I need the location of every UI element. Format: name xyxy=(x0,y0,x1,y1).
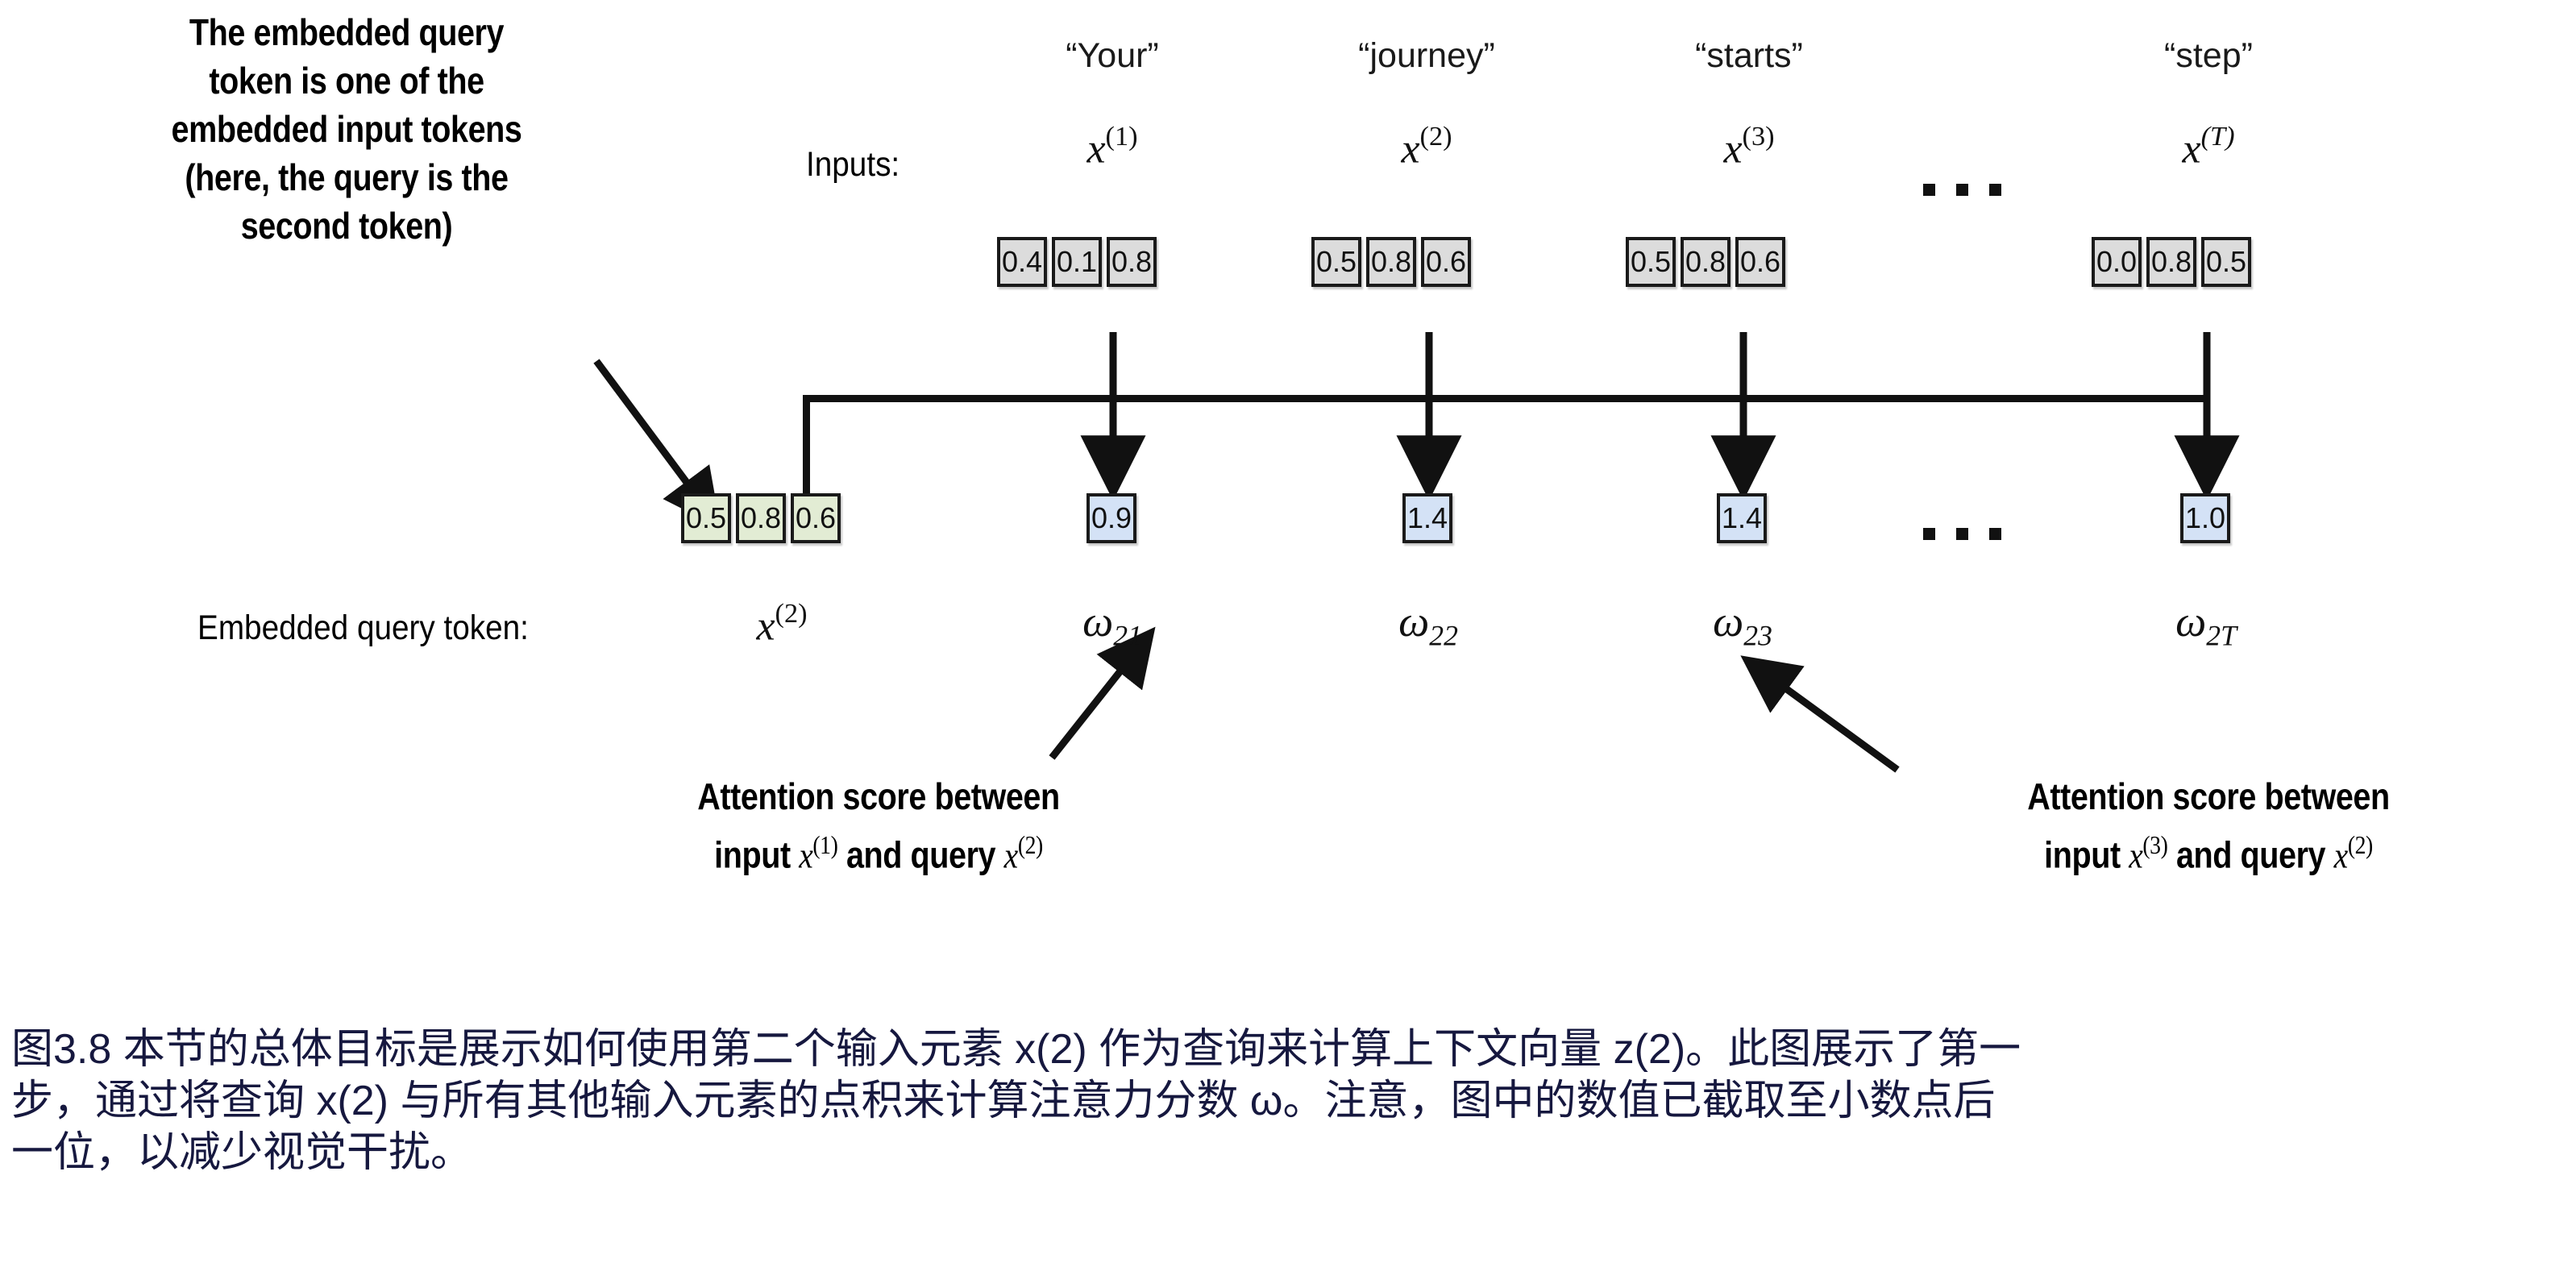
left-annotation-sup-1: (1) xyxy=(812,830,837,859)
left-annotation-mid: and query xyxy=(837,834,1003,876)
left-annotation-var-1: x xyxy=(799,835,812,876)
embedded-query-symbol-base: x xyxy=(756,603,775,649)
left-annotation-arrow xyxy=(1052,661,1128,758)
right-annotation-arrow xyxy=(1776,681,1897,770)
left-attention-annotation: Attention score between input x(1) and q… xyxy=(609,772,1149,880)
score-cell: 1.4 xyxy=(1717,493,1767,543)
score-cell: 1.4 xyxy=(1402,493,1452,543)
omega-base-3: ω xyxy=(1713,597,1743,646)
caption-line-1: 图3.8 本节的总体目标是展示如何使用第二个输入元素 x(2) 作为查询来计算上… xyxy=(11,1024,2566,1075)
right-annotation-line-1: Attention score between xyxy=(1938,772,2479,820)
embedded-query-symbol-sup: (2) xyxy=(775,598,808,629)
omega-sub-4: 2T xyxy=(2206,619,2237,651)
caption-line-2: 步，通过将查询 x(2) 与所有其他输入元素的点积来计算注意力分数 ω。注意，图… xyxy=(11,1075,2566,1127)
embedded-query-token-label: Embedded query token: xyxy=(197,609,529,648)
score-box-2: 1.4 xyxy=(1402,493,1452,543)
omega-sub-1: 21 xyxy=(1113,619,1142,651)
score-box-4: 1.0 xyxy=(2180,493,2230,543)
score-label-2: ω22 xyxy=(1323,596,1533,652)
score-label-4: ω2T xyxy=(2101,596,2311,652)
figure-canvas: The embedded query token is one of the e… xyxy=(0,0,2576,1267)
caption-line-3: 一位，以减少视觉干扰。 xyxy=(11,1127,2566,1178)
score-cell: 1.0 xyxy=(2180,493,2230,543)
right-annotation-line-2: input x(3) and query x(2) xyxy=(1938,820,2479,880)
right-annotation-prefix: input xyxy=(2044,834,2129,876)
query-cell: 0.5 xyxy=(681,493,731,543)
score-label-3: ω23 xyxy=(1638,596,1847,652)
query-cell: 0.8 xyxy=(736,493,786,543)
omega-sub-2: 22 xyxy=(1429,619,1458,651)
left-annotation-sup-2: (2) xyxy=(1018,830,1043,859)
right-annotation-var-2: x xyxy=(2334,835,2348,876)
right-annotation-sup-1: (3) xyxy=(2142,830,2167,859)
left-annotation-prefix: input xyxy=(714,834,799,876)
score-label-1: ω21 xyxy=(1008,596,1217,652)
right-attention-annotation: Attention score between input x(3) and q… xyxy=(1938,772,2479,880)
omega-base-4: ω xyxy=(2175,597,2206,646)
right-annotation-mid: and query xyxy=(2167,834,2333,876)
right-annotation-var-1: x xyxy=(2129,835,2142,876)
figure-caption: 图3.8 本节的总体目标是展示如何使用第二个输入元素 x(2) 作为查询来计算上… xyxy=(11,1024,2566,1178)
omega-base-2: ω xyxy=(1398,597,1429,646)
omega-sub-3: 23 xyxy=(1743,619,1772,651)
query-cell: 0.6 xyxy=(791,493,841,543)
score-box-3: 1.4 xyxy=(1717,493,1767,543)
embedded-query-symbol: x(2) xyxy=(677,598,887,650)
left-annotation-line-1: Attention score between xyxy=(609,772,1149,820)
score-cell: 0.9 xyxy=(1086,493,1136,543)
callout-pointer-arrow xyxy=(596,361,695,493)
left-annotation-line-2: input x(1) and query x(2) xyxy=(609,820,1149,880)
embedded-query-vector: 0.5 0.8 0.6 xyxy=(681,493,841,543)
right-annotation-sup-2: (2) xyxy=(2348,830,2373,859)
left-annotation-var-2: x xyxy=(1004,835,1018,876)
score-ellipsis-icon xyxy=(1923,528,2001,540)
score-box-1: 0.9 xyxy=(1086,493,1136,543)
omega-base-1: ω xyxy=(1082,597,1113,646)
